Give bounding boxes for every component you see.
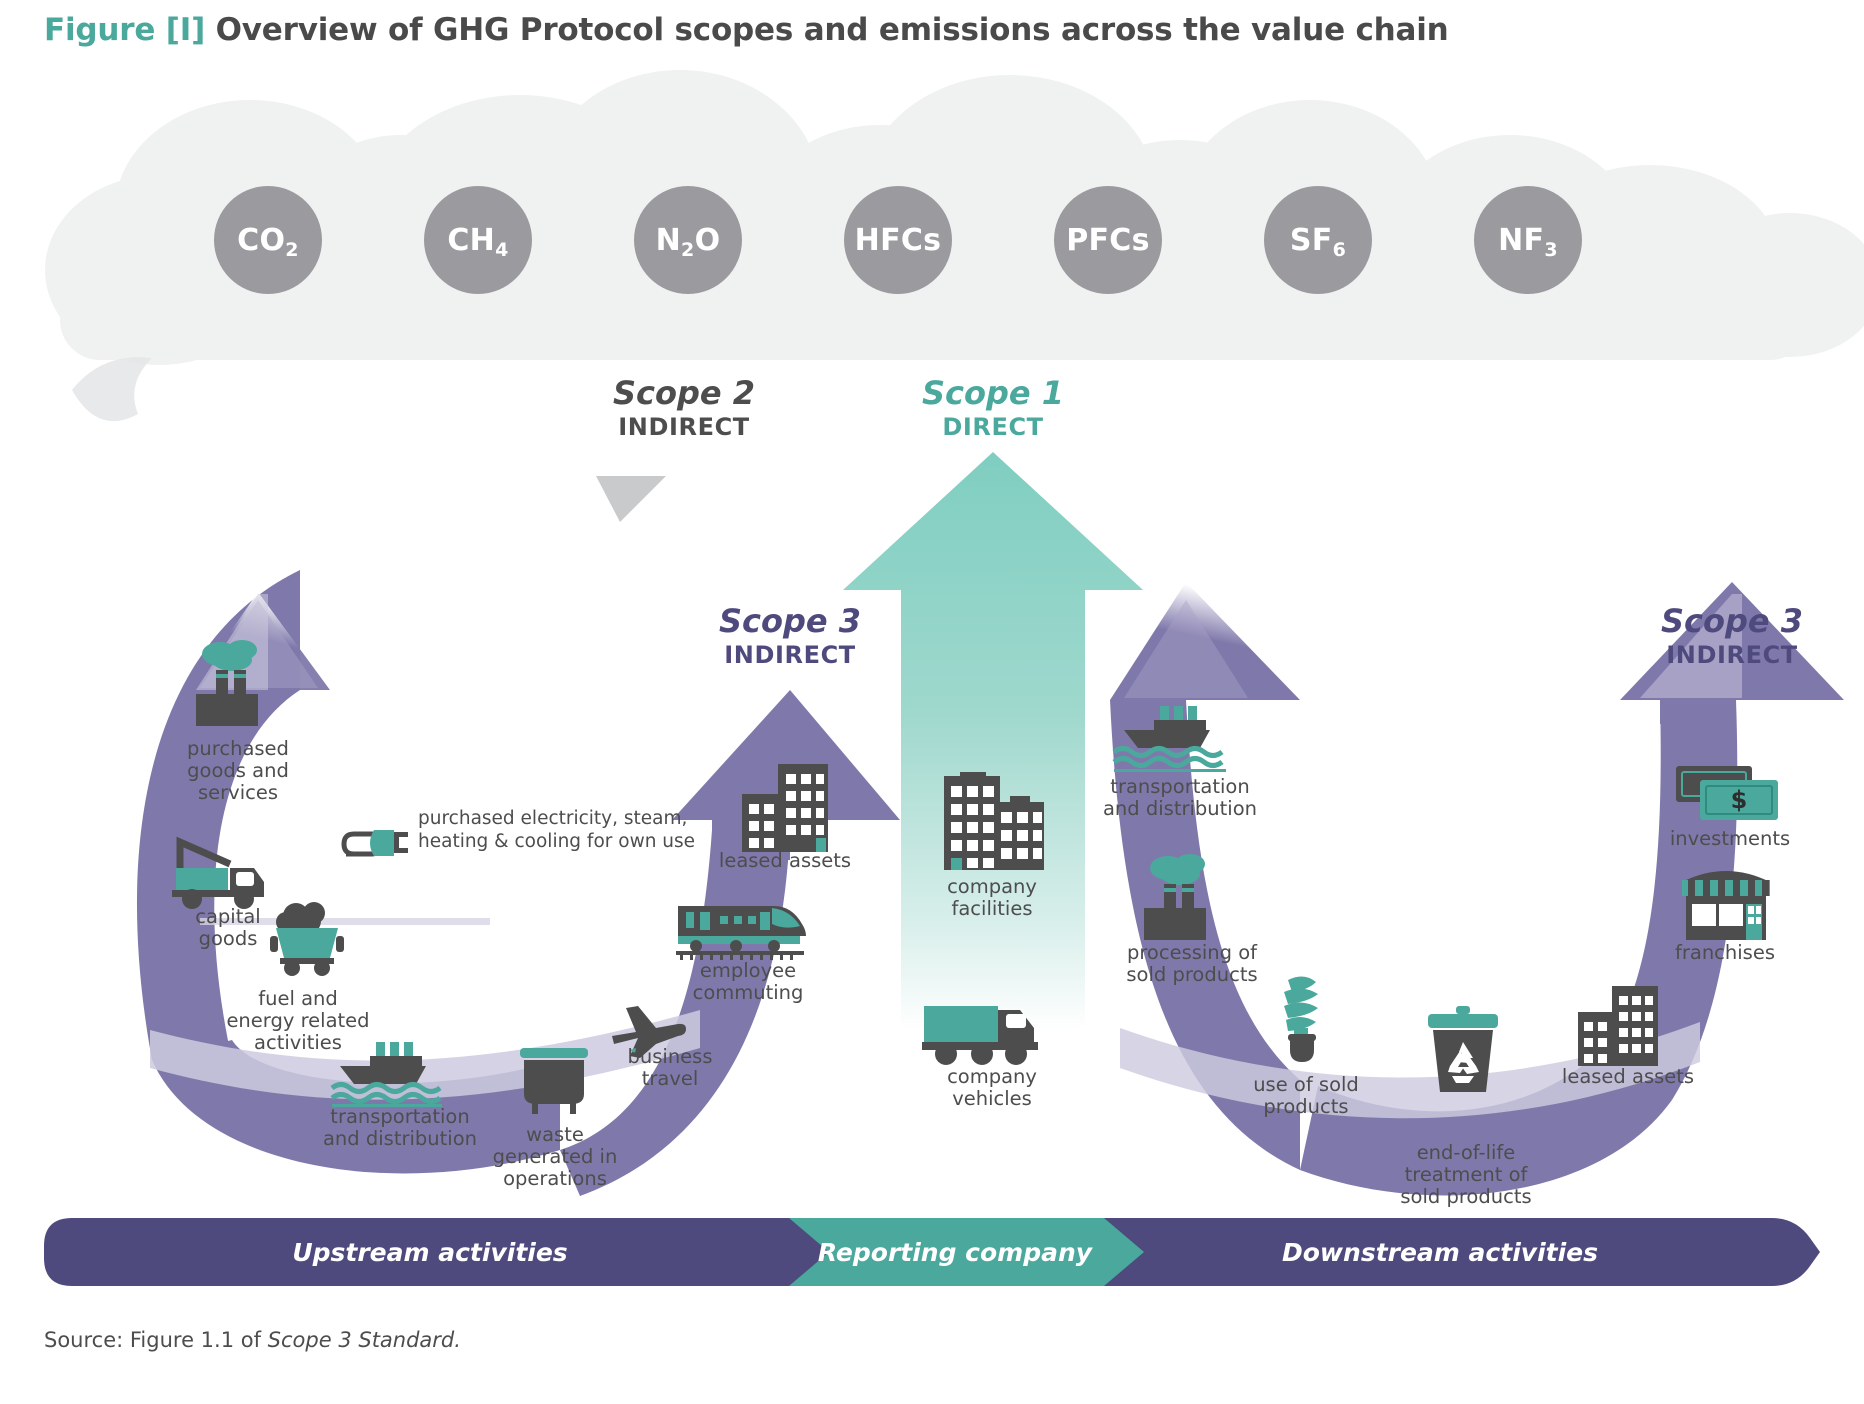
waste-bin-icon bbox=[512, 1042, 596, 1118]
power-plug-icon bbox=[338, 812, 412, 860]
factory-icon bbox=[190, 640, 286, 730]
scope2-name: Scope 2 bbox=[584, 376, 784, 412]
ribbon-label-reporting: Reporting company bbox=[790, 1238, 1120, 1267]
source-note: Source: Figure 1.1 of Scope 3 Standard. bbox=[44, 1328, 461, 1352]
scope1-heading: Scope 1 DIRECT bbox=[893, 376, 1093, 442]
source-italic: Scope 3 Standard. bbox=[268, 1328, 461, 1352]
recycle-bin-icon bbox=[1420, 1006, 1506, 1102]
label-business-travel: business travel bbox=[604, 1046, 736, 1090]
company-facilities-icon bbox=[938, 772, 1050, 876]
scope1-arrow bbox=[843, 452, 1143, 1030]
office-buildings-icon bbox=[734, 760, 838, 858]
label-fuel-and-energy-related-activities: fuel and energy related activities bbox=[200, 988, 396, 1055]
lightbulb-icon bbox=[1268, 972, 1338, 1072]
ribbon-label-upstream: Upstream activities bbox=[160, 1238, 700, 1267]
label-downstream-transportation-and-distribution: transportation and distribution bbox=[1086, 776, 1274, 820]
svg-text:$: $ bbox=[1731, 786, 1748, 814]
downstream-cargo-ship-icon bbox=[1112, 700, 1232, 774]
label-upstream-leased-assets: leased assets bbox=[700, 850, 870, 872]
figure-canvas: Figure [I] Overview of GHG Protocol scop… bbox=[0, 0, 1864, 1404]
label-investments: investments bbox=[1650, 828, 1810, 850]
scope2-kind: INDIRECT bbox=[584, 412, 784, 442]
scope3-downstream-heading: Scope 3 INDIRECT bbox=[1632, 604, 1832, 670]
label-purchased-electricity-note: purchased electricity, steam, heating & … bbox=[418, 808, 695, 853]
scope3-upstream-name: Scope 3 bbox=[690, 604, 890, 640]
scope1-name: Scope 1 bbox=[893, 376, 1093, 412]
label-employee-commuting: employee commuting bbox=[672, 960, 824, 1004]
label-company-facilities: company facilities bbox=[912, 876, 1072, 920]
scope1-kind: DIRECT bbox=[893, 412, 1093, 442]
ribbon-label-downstream: Downstream activities bbox=[1180, 1238, 1700, 1267]
label-downstream-leased-assets: leased assets bbox=[1548, 1066, 1708, 1088]
label-capital-goods: capital goods bbox=[158, 906, 298, 950]
delivery-truck-icon bbox=[920, 1000, 1042, 1066]
label-processing-of-sold-products: processing of sold products bbox=[1104, 942, 1280, 986]
label-company-vehicles: company vehicles bbox=[912, 1066, 1072, 1110]
storefront-icon bbox=[1678, 862, 1774, 944]
downstream-leased-assets-icon bbox=[1572, 984, 1664, 1070]
crane-truck-icon bbox=[168, 824, 276, 906]
scope2-arrow bbox=[596, 476, 666, 522]
label-franchises: franchises bbox=[1650, 942, 1800, 964]
processing-factory-icon bbox=[1136, 852, 1232, 944]
label-end-of-life-treatment-of-sold-products: end-of-life treatment of sold products bbox=[1380, 1142, 1552, 1209]
scope3-upstream-heading: Scope 3 INDIRECT bbox=[690, 604, 890, 670]
banknote-icon: $ bbox=[1672, 762, 1782, 828]
source-prefix: Source: Figure 1.1 of bbox=[44, 1328, 268, 1352]
label-waste-generated-in-operations: waste generated in operations bbox=[460, 1124, 650, 1191]
train-icon bbox=[676, 898, 808, 960]
scope3-downstream-name: Scope 3 bbox=[1632, 604, 1832, 640]
scope2-heading: Scope 2 INDIRECT bbox=[584, 376, 784, 442]
scope3-downstream-kind: INDIRECT bbox=[1632, 640, 1832, 670]
label-purchased-goods-and-services: purchased goods and services bbox=[150, 738, 326, 805]
label-use-of-sold-products: use of sold products bbox=[1226, 1074, 1386, 1118]
scope3-upstream-kind: INDIRECT bbox=[690, 640, 890, 670]
